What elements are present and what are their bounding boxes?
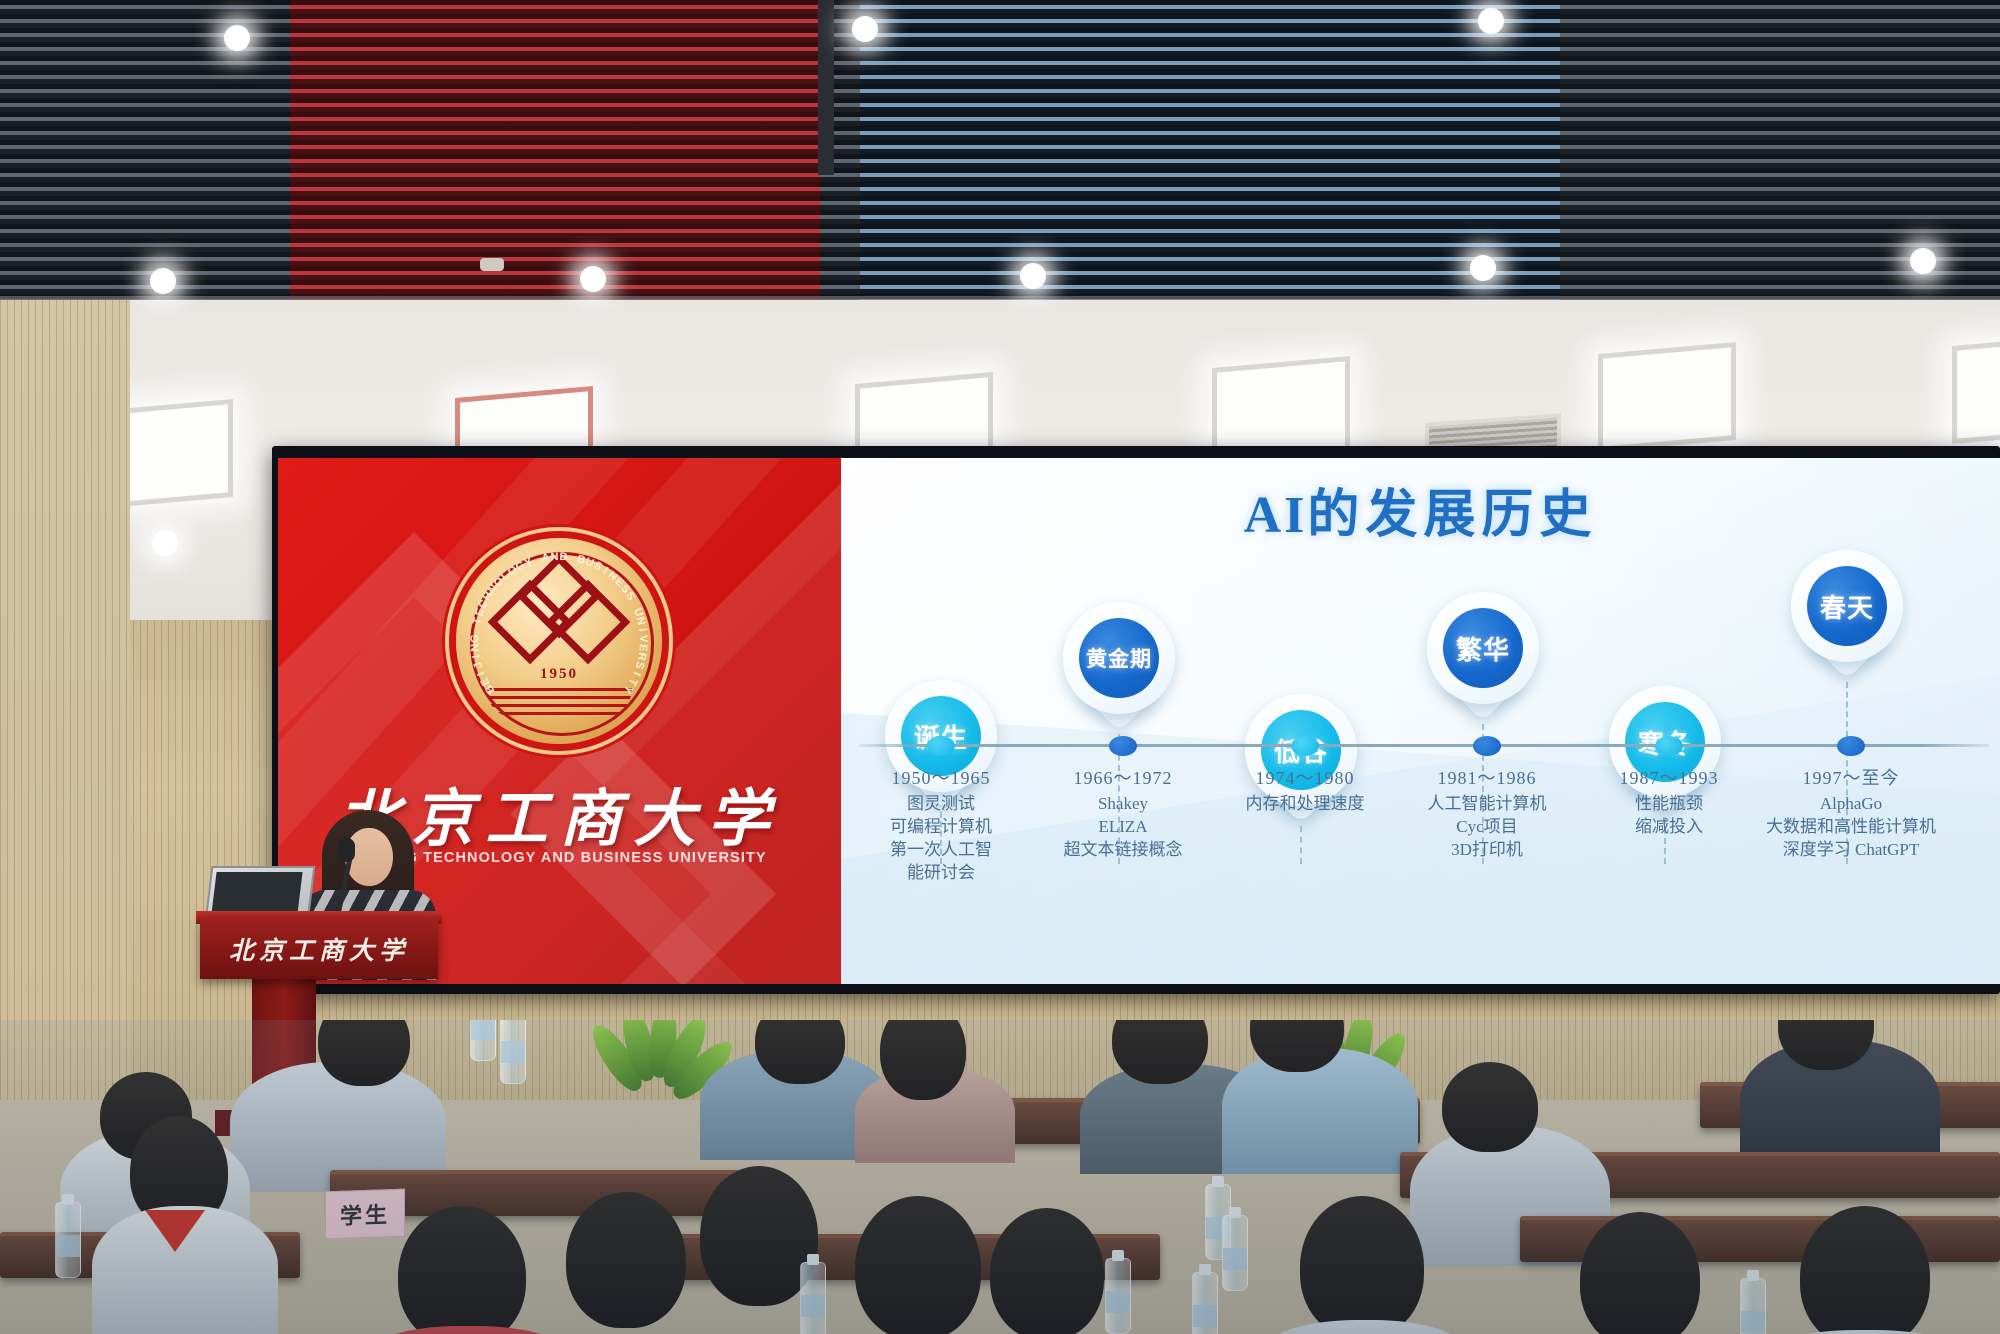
slide-title: AI的发展历史: [841, 472, 2000, 547]
audience-head: [1442, 1062, 1538, 1152]
side-wall-left: [0, 300, 130, 1100]
water-bottle[interactable]: [800, 1262, 826, 1334]
laptop-screen[interactable]: [211, 872, 302, 914]
period-event-2: ELIZA: [983, 816, 1263, 839]
water-bottle[interactable]: [500, 1020, 526, 1084]
podium: 北京工商大学: [200, 917, 438, 979]
timeline-period-6: 1997～至今AlphaGo大数据和高性能计算机深度学习 ChatGPT: [1711, 764, 1991, 862]
emblem-arc-char: D: [559, 551, 568, 563]
placard-label: 学生: [340, 1197, 390, 1231]
projection-screen[interactable]: 1950 BEIJING TECHNOLOGY AND BUSINESS UNI…: [278, 458, 2000, 984]
pin-label: 繁华: [1443, 608, 1523, 688]
ceiling-downlight: [152, 530, 178, 556]
audience-area: 学生: [0, 1020, 2000, 1334]
ceiling-downlight: [580, 266, 606, 292]
emblem-arc-char: I: [630, 670, 642, 677]
water-bottle[interactable]: [55, 1202, 81, 1278]
water-bottle[interactable]: [1105, 1258, 1131, 1334]
emblem-arc-char: E: [636, 643, 649, 651]
presentation-slide: AI的发展历史 诞生黄金期低谷繁华寒冬春天 1950～1965图灵测试可编程计算…: [841, 458, 2000, 984]
ceiling-downlight: [150, 268, 176, 294]
period-event-3: 超文本链接概念: [983, 839, 1263, 862]
timeline-axis: [859, 744, 1989, 747]
ceiling-downlight: [1470, 255, 1496, 281]
audience-placard: 学生: [325, 1189, 405, 1240]
ceiling-hanging-bar: [818, 0, 834, 175]
timeline-pin-6[interactable]: 春天: [1791, 550, 1903, 688]
emblem-arc-char: A: [541, 552, 551, 565]
emblem-arc-char: J: [472, 660, 485, 669]
water-bottle[interactable]: [470, 1020, 496, 1061]
slide-title-latin: AI: [1244, 487, 1308, 544]
ceiling-downlight: [852, 16, 878, 42]
period-years: 1997～至今: [1711, 764, 1991, 790]
potted-plant: [600, 1020, 720, 1096]
pin-label: 黄金期: [1079, 618, 1159, 698]
lecture-hall-photo: 1950 BEIJING TECHNOLOGY AND BUSINESS UNI…: [0, 0, 2000, 1334]
ceiling-panel-light: [1598, 342, 1736, 452]
period-event-1: AlphaGo: [1711, 793, 1991, 816]
emblem-arc-char: S: [633, 660, 647, 670]
emblem-arc-char: T: [471, 616, 484, 625]
audience-shoulders: [1265, 1320, 1465, 1334]
emblem-arc-char: I: [470, 654, 482, 659]
water-bottle[interactable]: [1192, 1272, 1218, 1334]
emblem-arc-char: I: [636, 627, 648, 632]
ceiling-panel-light: [1952, 334, 2000, 444]
smoke-detector-icon: [480, 258, 504, 271]
ceiling-slat-band: [0, 0, 2000, 330]
timeline-tick-1[interactable]: [927, 736, 955, 756]
ceiling-slat-red-reflection: [290, 0, 820, 330]
emblem-arc-char: N: [550, 551, 559, 563]
audience-head: [880, 1020, 966, 1100]
audience-head: [566, 1192, 686, 1328]
timeline-pin-2[interactable]: 黄金期: [1063, 602, 1175, 740]
water-bottle[interactable]: [1222, 1215, 1248, 1291]
ceiling-downlight: [224, 25, 250, 51]
timeline-tick-5[interactable]: [1655, 736, 1683, 756]
timeline-tick-6[interactable]: [1837, 736, 1865, 756]
period-event-2: 大数据和高性能计算机: [1711, 816, 1991, 839]
audience-head: [855, 1196, 981, 1334]
audience-head: [990, 1208, 1104, 1334]
podium-label: 北京工商大学: [200, 931, 438, 967]
period-event-4: 能研讨会: [841, 862, 1081, 885]
ceiling-downlight: [1020, 263, 1046, 289]
water-bottle[interactable]: [1740, 1278, 1766, 1334]
slide-title-cn: 的发展历史: [1307, 487, 1597, 544]
emblem-arc-char: G: [469, 634, 481, 643]
timeline-tick-3[interactable]: [1291, 736, 1319, 756]
emblem-arc-char: N: [469, 643, 482, 652]
period-event-3: 3D打印机: [1347, 839, 1627, 862]
emblem-arc-text: BEIJING TECHNOLOGY AND BUSINESS UNIVERSI…: [456, 538, 662, 744]
emblem-arc-char: N: [634, 616, 648, 627]
timeline-tick-4[interactable]: [1473, 736, 1501, 756]
timeline-pin-4[interactable]: 繁华: [1427, 592, 1539, 730]
emblem-arc-char: V: [637, 635, 649, 643]
university-emblem: 1950 BEIJING TECHNOLOGY AND BUSINESS UNI…: [456, 538, 662, 744]
pin-label: 春天: [1807, 566, 1887, 646]
period-event-3: 深度学习 ChatGPT: [1711, 839, 1991, 862]
pin-connector: [1300, 826, 1302, 864]
audience-head: [1300, 1196, 1424, 1334]
ceiling-downlight: [1910, 248, 1936, 274]
audience-shoulders: [368, 1326, 568, 1334]
ceiling-slat-blue-reflection: [860, 0, 1560, 300]
audience-head: [398, 1206, 526, 1334]
microphone-icon: [338, 838, 355, 862]
timeline-tick-2[interactable]: [1109, 736, 1137, 756]
audience-shoulders: [1760, 1330, 1970, 1334]
ceiling-downlight: [1478, 8, 1504, 34]
